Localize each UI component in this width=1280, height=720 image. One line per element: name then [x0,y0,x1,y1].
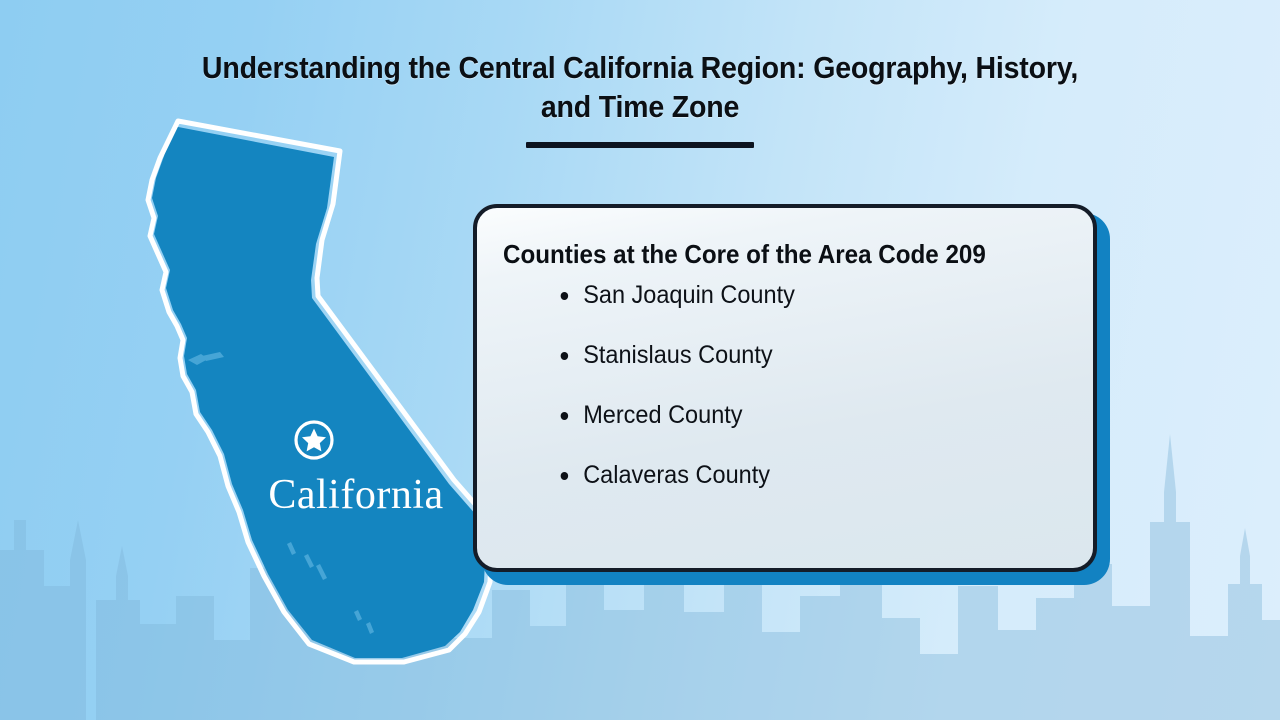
slide-canvas: Understanding the Central California Reg… [0,0,1280,720]
list-item: San Joaquin County [555,283,1036,308]
title-underline-rule [526,142,754,148]
california-fill-path [152,126,486,658]
county-name: San Joaquin County [583,281,795,309]
title-block: Understanding the Central California Reg… [160,48,1120,148]
card-heading: Counties at the Core of the Area Code 20… [503,240,1028,269]
page-title: Understanding the Central California Reg… [198,48,1081,126]
list-item: Merced County [555,403,1036,428]
county-name: Stanislaus County [583,341,772,369]
list-item: Stanislaus County [555,343,1036,368]
star-in-circle-icon [292,418,336,462]
county-name: Calaveras County [583,461,770,489]
card-content: Counties at the Core of the Area Code 20… [477,208,1093,488]
list-item: Calaveras County [555,463,1036,488]
county-list: San Joaquin County Stanislaus County Mer… [503,283,1067,488]
counties-info-card: Counties at the Core of the Area Code 20… [473,204,1097,572]
county-name: Merced County [583,401,742,429]
